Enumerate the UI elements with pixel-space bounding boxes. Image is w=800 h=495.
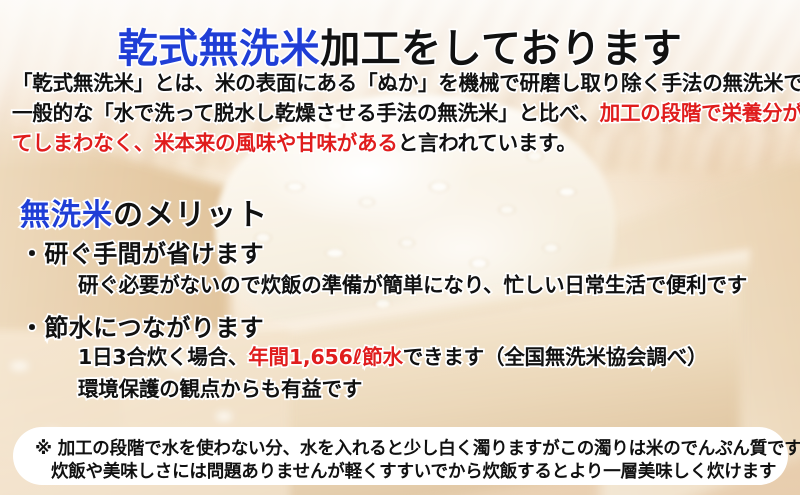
merit-2-detail-highlight: 年間1,656ℓ節水	[248, 345, 403, 369]
merit-2-detail: 1日3合炊く場合、年間1,656ℓ節水できます（全国無洗米協会調べ）	[78, 340, 707, 370]
lead-line-2-black-text: 一般的な「水で洗って脱水し乾燥させる手法の無洗米」と比べ、	[12, 101, 600, 125]
poster-content: 乾式無洗米加工をしております 「乾式無洗米」とは、米の表面にある「ぬか」を機械で…	[0, 0, 800, 495]
lead-line-2: 一般的な「水で洗って脱水し乾燥させる手法の無洗米」と比べ、加工の段階で栄養分が流…	[12, 96, 800, 126]
merit-2-bullet: ・節水につながります	[20, 308, 264, 343]
lead-line-3: てしまわなく、米本来の風味や甘味があると言われています。	[12, 126, 577, 156]
footer-note-line-2: 炊飯や美味しさには問題ありませんが軽くすすいでから炊飯するとより一層美味しく炊け…	[51, 458, 776, 483]
lead-line-1: 「乾式無洗米」とは、米の表面にある「ぬか」を機械で研磨し取り除く手法の無洗米です…	[12, 66, 800, 96]
lead-line-1-text: 「乾式無洗米」とは、米の表面にある「ぬか」を機械で研磨し取り除く手法の無洗米です…	[12, 71, 800, 95]
merit-2-detail-suffix: できます（全国無洗米協会調べ）	[403, 345, 708, 369]
merit-section-heading: 無洗米のメリット	[20, 190, 268, 234]
merit-heading-black-part: のメリット	[113, 198, 268, 233]
footer-note-box: ※ 加工の段階で水を使わない分、水を入れると少し白く濁りますがこの濁りは米のでん…	[13, 427, 788, 485]
merit-heading-blue-part: 無洗米	[20, 198, 113, 233]
lead-line-2-red-text: 加工の段階で栄養分が流れ	[600, 101, 800, 125]
footer-note-line-1: ※ 加工の段階で水を使わない分、水を入れると少し白く濁りますがこの濁りは米のでん…	[35, 435, 800, 460]
merit-2-detail-secondary: 環境保護の観点からも有益です	[78, 372, 362, 402]
rice-promo-poster: 乾式無洗米加工をしております 「乾式無洗米」とは、米の表面にある「ぬか」を機械で…	[0, 0, 800, 495]
lead-line-3-red-text: てしまわなく、米本来の風味や甘味がある	[12, 131, 398, 155]
merit-1-bullet: ・研ぐ手間が省けます	[20, 234, 264, 269]
lead-line-3-black-text: と言われています。	[398, 131, 577, 155]
merit-1-detail: 研ぐ必要がないので炊飯の準備が簡単になり、忙しい日常生活で便利です	[78, 268, 747, 298]
merit-2-detail-prefix: 1日3合炊く場合、	[78, 345, 248, 369]
